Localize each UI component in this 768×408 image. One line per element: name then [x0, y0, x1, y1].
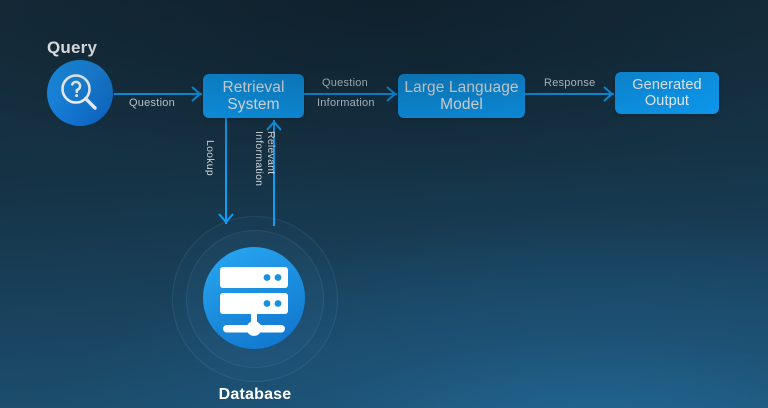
magnifier-question-icon — [47, 60, 113, 126]
node-large-language-model[interactable]: Large Language Model — [398, 74, 525, 118]
edge-label-response-to-output: Response — [544, 76, 596, 90]
edge-retrieval-to-database — [219, 118, 233, 224]
generated-output-label-line2: Output — [632, 93, 701, 109]
edge-label-question-to-llm: Question — [322, 76, 368, 90]
query-label: Query — [47, 38, 97, 58]
node-query[interactable] — [47, 60, 113, 126]
edge-label-question-to-retrieval: Question — [129, 96, 175, 110]
generated-output-label-line1: Generated — [632, 77, 701, 93]
node-retrieval-system[interactable]: Retrieval System — [203, 74, 304, 118]
database-label: Database — [172, 386, 338, 404]
retrieval-system-label-line2: System — [222, 96, 284, 113]
connector-layer: .conn { stroke: #0d9ef7; stroke-width: 2… — [0, 0, 768, 408]
server-rack-icon — [203, 247, 305, 349]
edge-label-relevant-line2: Information — [252, 131, 264, 186]
edge-label-lookup: Lookup — [204, 140, 216, 176]
node-generated-output[interactable]: Generated Output — [615, 72, 719, 114]
llm-label-line2: Model — [404, 96, 518, 113]
node-database[interactable]: Database — [172, 216, 338, 382]
diagram-canvas: .conn { stroke: #0d9ef7; stroke-width: 2… — [0, 0, 768, 408]
edge-label-information-to-llm: Information — [317, 96, 375, 110]
llm-label-line1: Large Language — [404, 79, 518, 96]
retrieval-system-label-line1: Retrieval — [222, 79, 284, 96]
edge-label-relevant-line1: Relevant — [265, 131, 277, 186]
edge-label-relevant-information: Relevant Information — [252, 131, 277, 186]
